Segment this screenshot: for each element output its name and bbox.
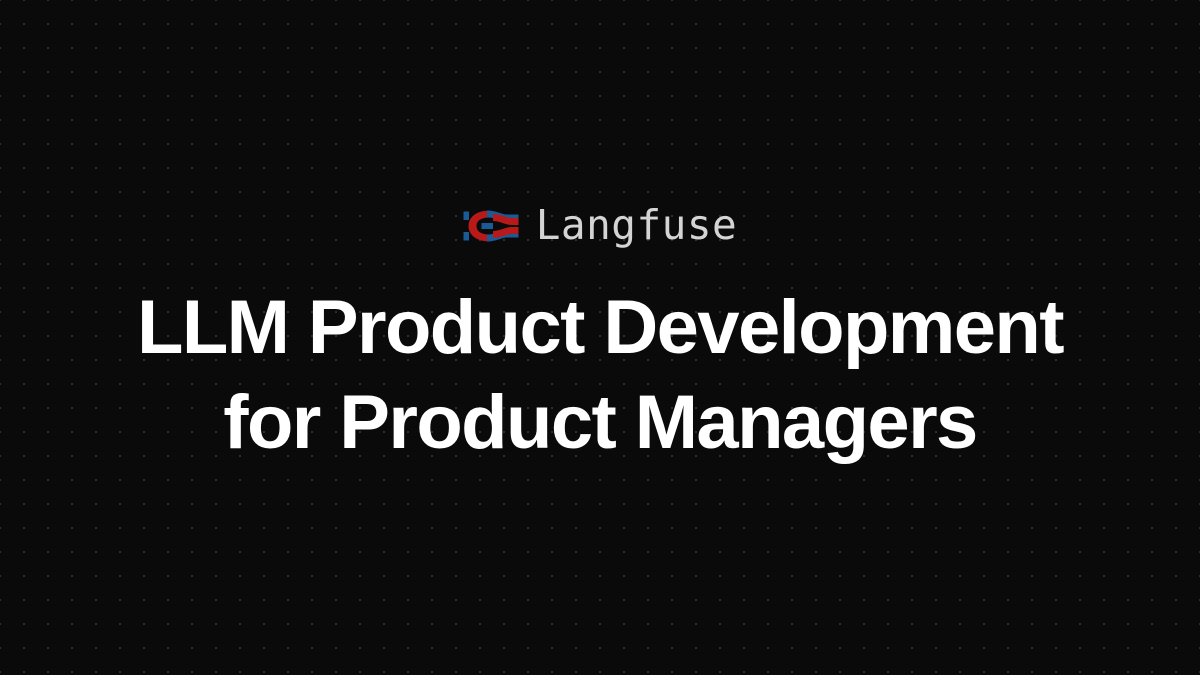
page-title: LLM Product Development for Product Mana… (137, 280, 1063, 470)
brand-name-wordmark: Langfuse (536, 205, 737, 246)
page-title-line-1: LLM Product Development (137, 280, 1063, 375)
langfuse-logo-icon (463, 206, 519, 246)
slide-content: Langfuse LLM Product Development for Pro… (0, 0, 1200, 675)
page-title-line-2: for Product Managers (137, 375, 1063, 470)
brand-lockup: Langfuse (463, 205, 737, 246)
title-slide: Langfuse LLM Product Development for Pro… (0, 0, 1200, 675)
